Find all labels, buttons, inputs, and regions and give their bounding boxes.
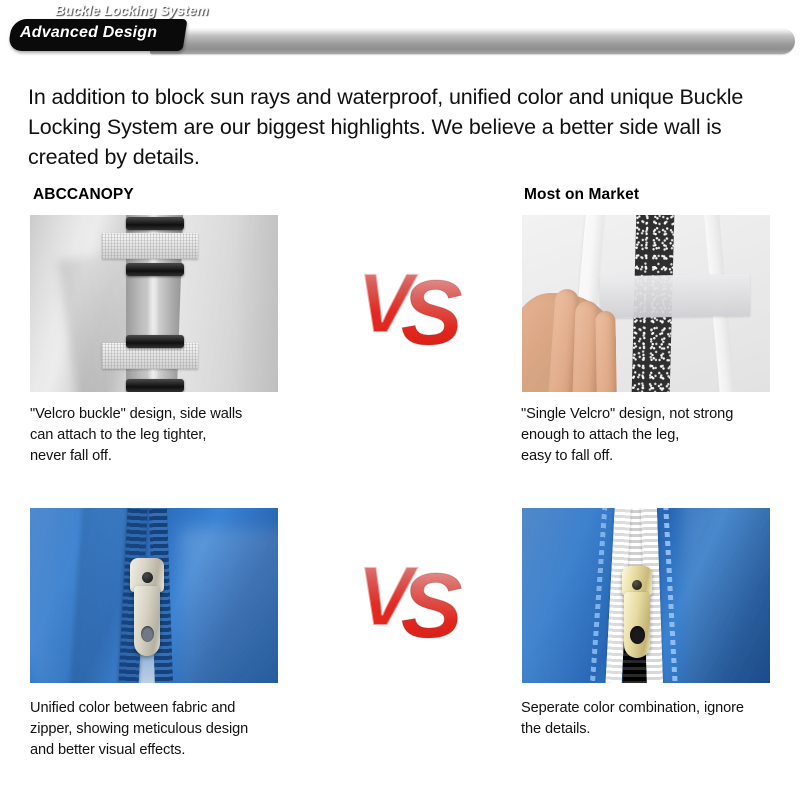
caption-row1-left: "Velcro buckle" design, side walls can a… <box>30 404 330 467</box>
black-buckle-2 <box>126 263 184 276</box>
zipper-pull-tab <box>134 586 160 656</box>
side-wall-shadow <box>235 215 278 392</box>
caption-row2-left: Unified color between fabric and zipper,… <box>30 698 330 761</box>
vs-badge-row1: S V <box>355 252 465 348</box>
photo-single-velcro-market <box>522 215 770 392</box>
intro-paragraph: In addition to block sun rays and waterp… <box>28 82 773 172</box>
svg-text:V: V <box>357 256 419 348</box>
black-buckle-1 <box>126 217 184 230</box>
photo-velcro-buckle-abccanopy <box>30 215 278 392</box>
zipper-pull-hole <box>630 626 645 644</box>
single-velcro-wrap <box>600 274 751 319</box>
fabric-shadow <box>682 508 770 683</box>
velcro-strap-upper <box>102 233 198 259</box>
zipper-pull-hole <box>141 626 154 642</box>
zipper-pull-tab <box>624 592 650 658</box>
vs-icon: S V <box>355 252 465 348</box>
svg-text:V: V <box>357 549 419 641</box>
fabric-shadow <box>180 528 278 683</box>
vs-badge-row2: S V <box>355 545 465 641</box>
photo-unified-zipper-abccanopy <box>30 508 278 683</box>
black-buckle-3 <box>126 335 184 348</box>
zipper-slider-pin <box>632 580 642 590</box>
vs-icon: S V <box>355 545 465 641</box>
column-title-most-on-market: Most on Market <box>524 186 639 204</box>
finger-3 <box>595 311 616 392</box>
black-buckle-4 <box>126 379 184 392</box>
header-tab-label: Advanced Design <box>20 24 157 42</box>
header-banner: Buckle Locking System Advanced Design <box>0 0 800 66</box>
header-gradient-bar <box>150 28 795 54</box>
velcro-texture <box>102 233 198 259</box>
column-title-abccanopy: ABCCANOPY <box>33 186 134 204</box>
caption-row1-right: "Single Velcro" design, not strong enoug… <box>521 404 791 467</box>
header-subtitle: Buckle Locking System <box>55 3 209 18</box>
photo-mixed-zipper-market <box>522 508 770 683</box>
zipper-slider-pin <box>142 572 153 583</box>
caption-row2-right: Seperate color combination, ignore the d… <box>521 698 791 740</box>
